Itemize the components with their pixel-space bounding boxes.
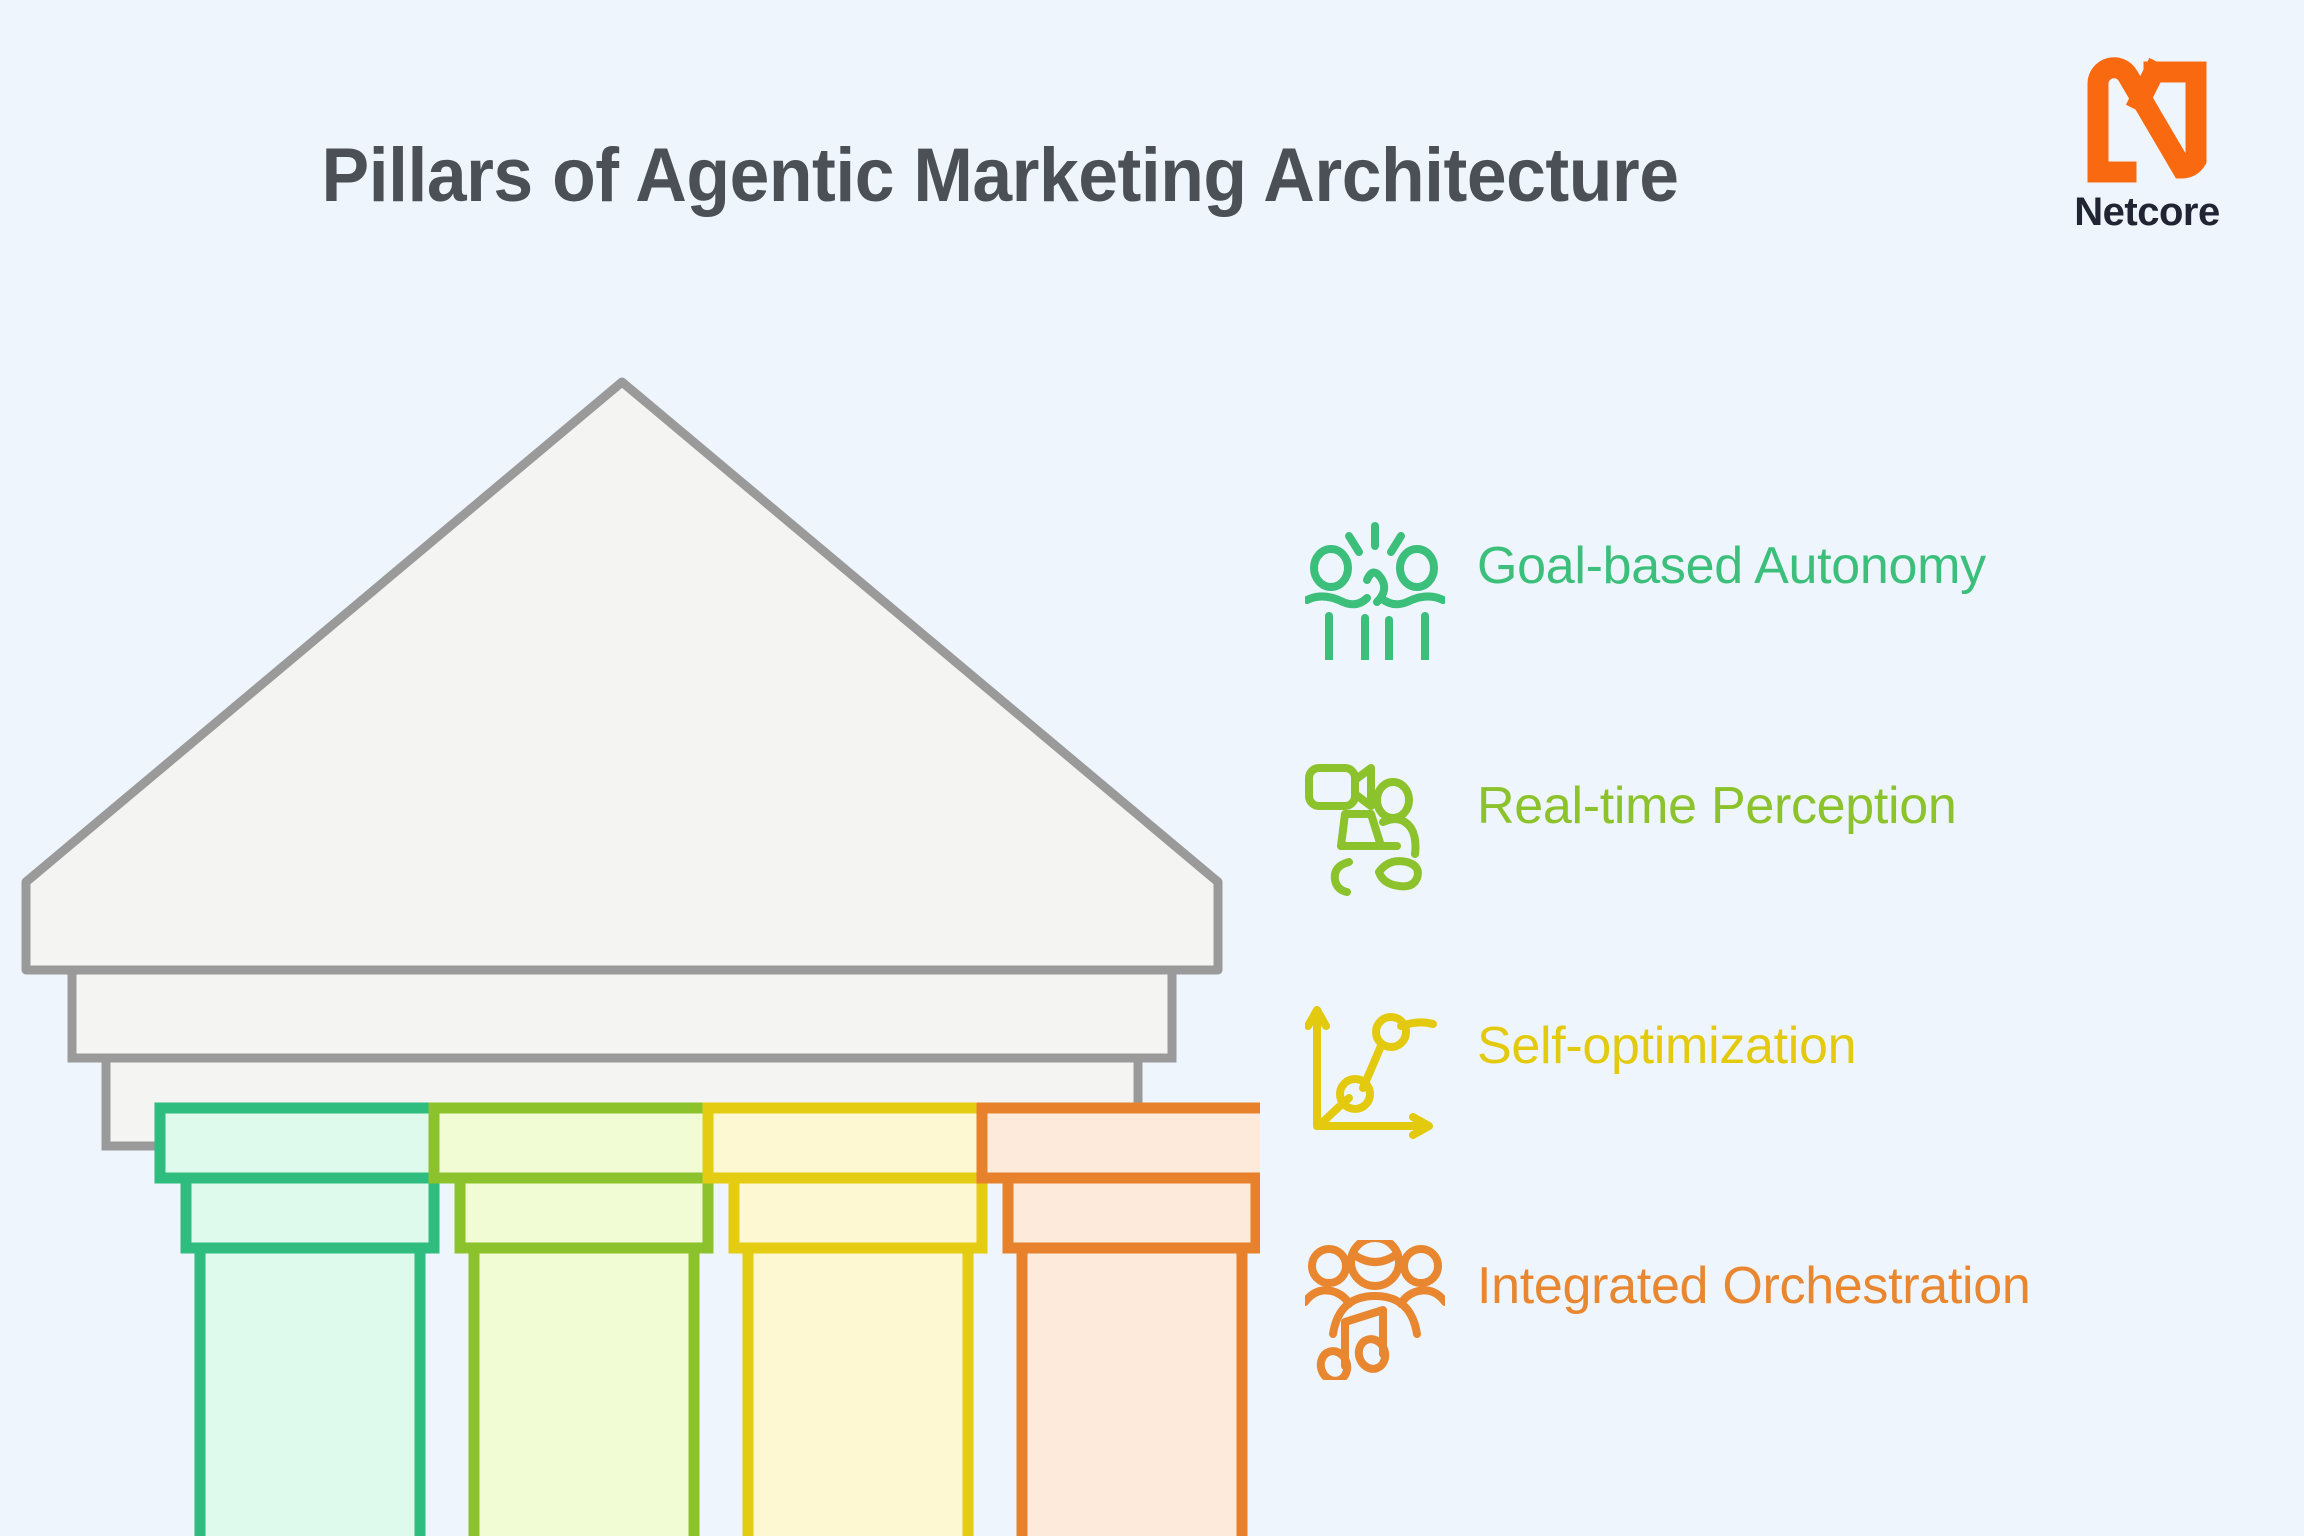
pediment-roof: [26, 382, 1218, 970]
people-high-five-icon: [1305, 520, 1445, 660]
legend-item-integrated-orchestration[interactable]: Integrated Orchestration: [1305, 1220, 2265, 1460]
pillar-capital-abacus: [982, 1108, 1260, 1178]
pillar-self-optimization: [708, 1108, 1008, 1536]
pillar-capital-echinus: [734, 1178, 982, 1248]
line-chart-growth-icon: [1305, 1000, 1445, 1140]
page-title: Pillars of Agentic Marketing Architectur…: [60, 132, 1940, 219]
group-music-note-icon: [1305, 1240, 1445, 1380]
pillar-shaft: [200, 1248, 420, 1536]
brand-wordmark: Netcore: [2052, 190, 2242, 235]
pillar-capital-abacus: [708, 1108, 1008, 1178]
brand-logo: Netcore: [2052, 52, 2242, 235]
legend-label: Integrated Orchestration: [1477, 1256, 2031, 1316]
pillar-capital-echinus: [186, 1178, 434, 1248]
legend-label: Real-time Perception: [1477, 776, 1957, 836]
pillar-real-time-perception: [434, 1108, 734, 1536]
entablature-upper-band: [72, 970, 1172, 1058]
legend-list: Goal-based Autonomy: [1305, 500, 2265, 1460]
pillar-integrated-orchestration: [982, 1108, 1260, 1536]
legend-item-goal-based-autonomy[interactable]: Goal-based Autonomy: [1305, 500, 2265, 740]
legend-item-real-time-perception[interactable]: Real-time Perception: [1305, 740, 2265, 980]
netcore-n-mark-icon: [2082, 52, 2212, 184]
video-camera-person-laptop-icon: [1305, 760, 1445, 900]
pillar-shaft: [748, 1248, 968, 1536]
pillar-capital-echinus: [460, 1178, 708, 1248]
pillar-shaft: [474, 1248, 694, 1536]
pillar-capital-echinus: [1008, 1178, 1256, 1248]
legend-label: Self-optimization: [1477, 1016, 1856, 1076]
legend-label: Goal-based Autonomy: [1477, 536, 1986, 596]
legend-item-self-optimization[interactable]: Self-optimization: [1305, 980, 2265, 1220]
infographic-canvas: Pillars of Agentic Marketing Architectur…: [0, 0, 2304, 1536]
pillar-capital-abacus: [160, 1108, 460, 1178]
pillar-goal-based-autonomy: [160, 1108, 460, 1536]
temple-illustration: [0, 370, 1260, 1536]
pillar-capital-abacus: [434, 1108, 734, 1178]
pillar-shaft: [1022, 1248, 1242, 1536]
